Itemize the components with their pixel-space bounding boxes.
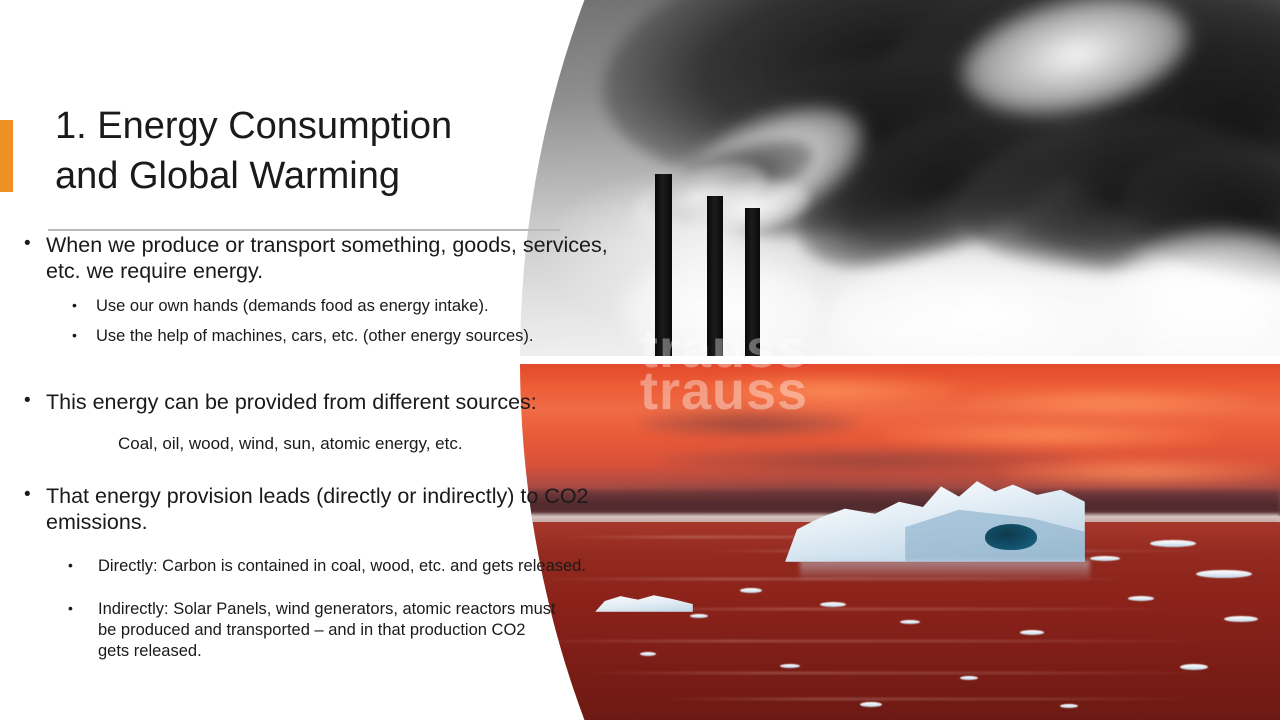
ice-floe bbox=[1020, 630, 1044, 635]
iceberg-reflection bbox=[800, 560, 1090, 580]
bullet-item: When we produce or transport something, … bbox=[0, 232, 625, 284]
sub-bullet-item: Use the help of machines, cars, etc. (ot… bbox=[0, 326, 625, 347]
ice-floe bbox=[1196, 570, 1252, 578]
ice-floe bbox=[690, 614, 708, 618]
bullet-item: That energy provision leads (directly or… bbox=[0, 483, 625, 535]
sub-bullet-item: Use our own hands (demands food as energ… bbox=[0, 296, 625, 317]
ice-floe bbox=[960, 676, 978, 680]
ice-floe bbox=[900, 620, 920, 624]
sky-cloud bbox=[960, 390, 1260, 416]
sub-bullet-item: Directly: Carbon is contained in coal, w… bbox=[0, 556, 618, 577]
ice-floe bbox=[1150, 540, 1196, 547]
sky-cloud bbox=[880, 422, 1220, 448]
accent-bar bbox=[0, 120, 13, 192]
water-streak bbox=[520, 640, 1220, 642]
slide-title-line1: 1. Energy Consumption bbox=[55, 101, 525, 151]
slide-title-line2: and Global Warming bbox=[55, 151, 525, 201]
ice-floe bbox=[1090, 556, 1120, 561]
ice-floe bbox=[1180, 664, 1208, 670]
bullet-item: This energy can be provided from differe… bbox=[0, 389, 625, 415]
ice-floe bbox=[640, 652, 656, 656]
slide-title: 1. Energy Consumption and Global Warming bbox=[55, 101, 525, 201]
iceberg-ice-cave bbox=[985, 524, 1037, 550]
slide-body: When we produce or transport something, … bbox=[0, 232, 625, 662]
ice-floe bbox=[1060, 704, 1078, 708]
water-streak bbox=[580, 672, 1220, 674]
sub-bullet-item: Indirectly: Solar Panels, wind generator… bbox=[0, 599, 558, 662]
water-streak bbox=[620, 608, 1180, 610]
ice-floe bbox=[1128, 596, 1154, 601]
water-streak bbox=[660, 698, 1200, 700]
watermark-bottom: trauss bbox=[640, 360, 808, 422]
sky-cloud bbox=[1000, 460, 1280, 484]
title-divider bbox=[48, 229, 560, 231]
ice-floe bbox=[860, 702, 882, 707]
ice-floe bbox=[1224, 616, 1258, 622]
ice-floe bbox=[780, 664, 800, 668]
ice-floe bbox=[820, 602, 846, 607]
ice-floe bbox=[740, 588, 762, 593]
sources-note: Coal, oil, wood, wind, sun, atomic energ… bbox=[0, 433, 625, 455]
presentation-slide: trauss trauss 1. Energy Consumption and … bbox=[0, 0, 1280, 720]
